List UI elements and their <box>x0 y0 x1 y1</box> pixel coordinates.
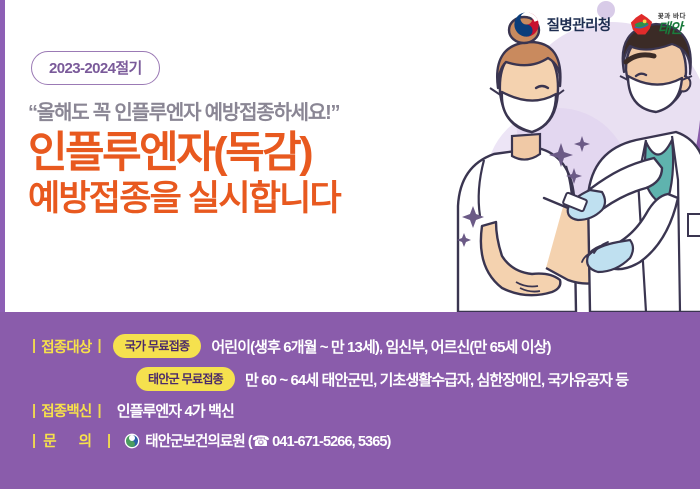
label-bar-right: | <box>91 403 106 419</box>
headline-block: “올해도 꼭 인플루엔자 예방접종하세요!” 인플루엔자(독감) 예방접종을 실… <box>28 96 340 219</box>
label-text-vaccine: 접종백신 <box>41 400 91 421</box>
row-text-inquiry: 태안군보건의료원 (☎ 041-671-5266, 5365) <box>145 430 390 451</box>
quote-text: “올해도 꼭 인플루엔자 예방접종하세요!” <box>28 96 340 125</box>
row-label-inquiry: | 문 의 | <box>26 430 116 451</box>
info-row-target-national: | 접종대상 | 국가 무료접종 어린이(생후 6개월 ~ 만 13세), 임신… <box>26 334 700 358</box>
info-row-vaccine: | 접종백신 | 인플루엔자 4가 백신 <box>26 400 700 421</box>
label-text-inquiry: 문 의 <box>41 430 101 451</box>
row-label-vaccine: | 접종백신 | <box>26 400 107 421</box>
season-badge: 2023-2024절기 <box>31 51 160 85</box>
row-text-national: 어린이(생후 6개월 ~ 만 13세), 임신부, 어르신(만 65세 이상) <box>211 336 550 357</box>
headline-line-2: 예방접종을 실시합니다 <box>28 179 340 218</box>
row-label-target: | 접종대상 | <box>26 336 107 357</box>
row-text-county: 만 60 ~ 64세 태안군민, 기초생활수급자, 심한장애인, 국가유공자 등 <box>245 369 628 390</box>
info-panel: | 접종대상 | 국가 무료접종 어린이(생후 6개월 ~ 만 13세), 임신… <box>0 312 700 489</box>
info-row-target-county: 태안군 무료접종 만 60 ~ 64세 태안군민, 기초생활수급자, 심한장애인… <box>26 367 700 391</box>
taegeuk-icon <box>513 11 540 38</box>
badge-national-free: 국가 무료접종 <box>113 334 202 358</box>
label-bar-right: | <box>91 338 106 354</box>
kdca-label: 질병관리청 <box>547 14 611 35</box>
row-text-vaccine: 인플루엔자 4가 백신 <box>117 400 234 421</box>
info-row-inquiry: | 문 의 | 태안군보건의료원 (☎ 041-671-5266, 5365) <box>26 430 700 451</box>
taean-wordmark: 꽃과 바다 태안 <box>658 14 686 36</box>
flower-icon <box>629 12 654 37</box>
poster-upper-section: 질병관리청 꽃과 바다 태안 2023-2024절기 “올해도 꼭 인플루엔자 … <box>0 0 700 312</box>
left-edge-strip <box>0 0 5 312</box>
influenza-vaccination-poster: 질병관리청 꽃과 바다 태안 2023-2024절기 “올해도 꼭 인플루엔자 … <box>0 0 700 489</box>
label-bar-right: | <box>101 433 116 449</box>
label-bar-left: | <box>26 433 41 449</box>
label-bar-left: | <box>26 403 41 419</box>
info-rows: | 접종대상 | 국가 무료접종 어린이(생후 6개월 ~ 만 13세), 임신… <box>0 312 700 460</box>
kdca-logo: 질병관리청 <box>513 11 611 38</box>
label-text-target: 접종대상 <box>41 336 91 357</box>
headline-line-1: 인플루엔자(독감) <box>28 130 340 176</box>
badge-county-free: 태안군 무료접종 <box>136 367 235 391</box>
vaccination-illustration <box>440 0 700 312</box>
taean-logo: 꽃과 바다 태안 <box>629 12 686 37</box>
logo-bar: 질병관리청 꽃과 바다 태안 <box>513 11 686 38</box>
health-center-icon <box>124 433 140 449</box>
taean-name: 태안 <box>658 21 686 35</box>
label-bar-left: | <box>26 338 41 354</box>
